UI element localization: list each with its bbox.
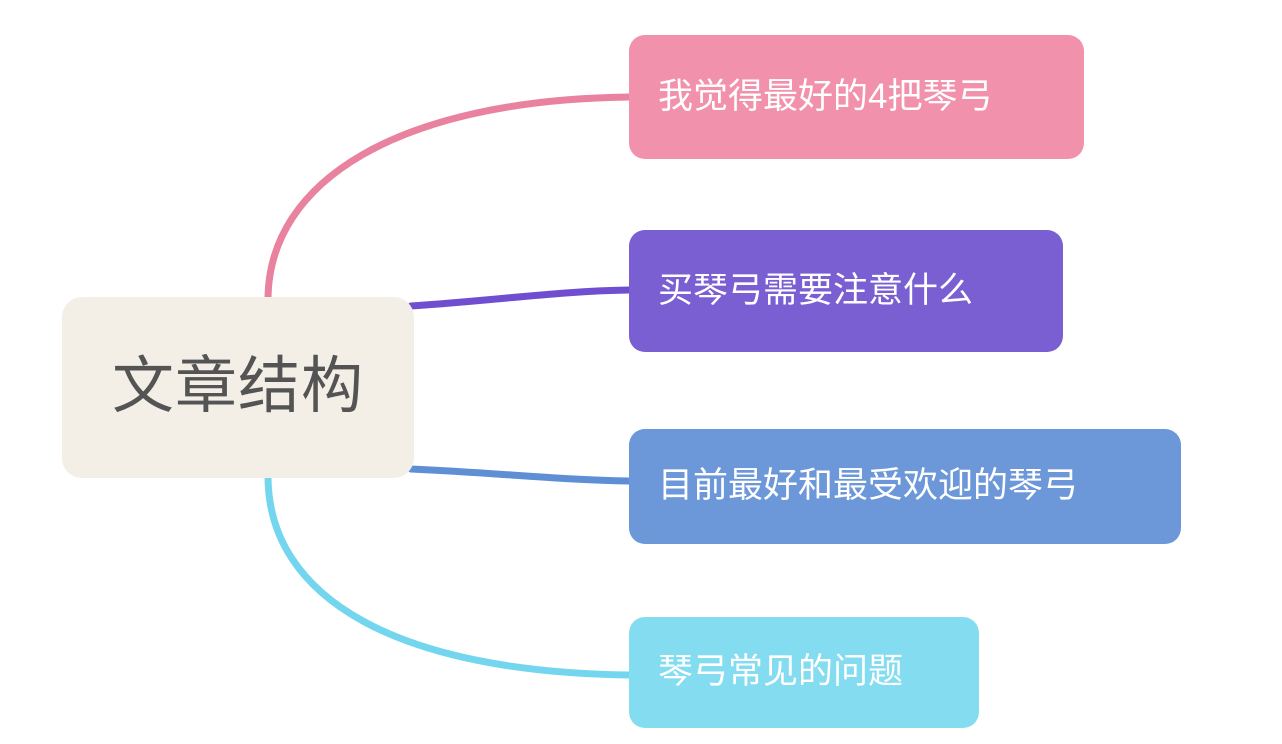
root-node[interactable]: 文章结构 bbox=[62, 297, 414, 478]
branch-node-common-problems[interactable]: 琴弓常见的问题 bbox=[629, 617, 979, 728]
connector-to-branch-1 bbox=[411, 290, 629, 306]
branch-node-label: 目前最好和最受欢迎的琴弓 bbox=[658, 467, 1078, 506]
branch-node-best-and-popular[interactable]: 目前最好和最受欢迎的琴弓 bbox=[629, 429, 1181, 544]
connector-to-branch-2 bbox=[411, 469, 629, 481]
mindmap-canvas: 文章结构 我觉得最好的4把琴弓 买琴弓需要注意什么 目前最好和最受欢迎的琴弓 琴… bbox=[0, 0, 1282, 744]
branch-node-label: 我觉得最好的4把琴弓 bbox=[658, 78, 992, 117]
connector-to-branch-3 bbox=[268, 476, 629, 675]
branch-node-buying-tips[interactable]: 买琴弓需要注意什么 bbox=[629, 230, 1063, 352]
connector-to-branch-0 bbox=[268, 97, 629, 300]
branch-node-label: 买琴弓需要注意什么 bbox=[658, 272, 973, 311]
branch-node-best-four-bows[interactable]: 我觉得最好的4把琴弓 bbox=[629, 35, 1084, 159]
branch-node-label: 琴弓常见的问题 bbox=[658, 653, 903, 692]
root-node-label: 文章结构 bbox=[112, 353, 364, 421]
